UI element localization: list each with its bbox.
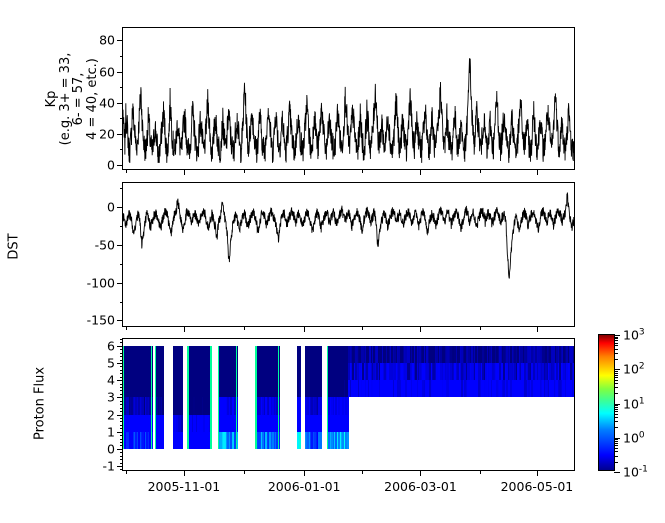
proton-y-tick [117,363,123,364]
dst-axis-title: DST [7,217,22,277]
heatmap-cell [320,346,322,363]
heatmap-cell [347,415,349,432]
heatmap-cell [162,346,164,363]
colorbar-minor-tick [614,462,618,463]
proton-y-tick-label: 6 [107,338,115,353]
colorbar-minor-tick [614,427,618,428]
colorbar-minor-tick [614,405,618,406]
colorbar-minor-tick [614,380,618,381]
proton-y-minor-tick [120,428,124,429]
dst-y-tick [117,283,123,284]
colorbar-minor-tick [614,451,618,452]
colorbar-minor-tick [614,337,618,338]
kp-plot-area [123,28,574,169]
dst-x-tick [537,326,538,332]
space-weather-figure: 020406080 Kp (e.g. 3+ = 33, 6- = 57, 4 =… [0,0,665,523]
proton-x-tick [537,470,538,476]
proton-flux-panel: -10123456 2005-11-012006-01-012006-03-01… [122,338,575,471]
proton-y-tick-label: 0 [107,441,115,456]
heatmap-cell [320,432,322,449]
proton-x-minor-tick [362,470,363,474]
heatmap-cell [162,380,164,397]
proton-x-tick-label: 2006-03-01 [384,479,457,494]
heatmap-cell [320,415,322,432]
colorbar-minor-tick [614,417,618,418]
proton-y-tick [117,449,123,450]
colorbar-minor-tick [614,456,618,457]
proton-y-minor-tick [120,366,124,367]
colorbar-minor-tick [614,441,618,442]
kp-x-tick [537,169,538,175]
colorbar-tick [614,438,620,439]
proton-y-tick [117,415,123,416]
dst-y-tick-label: -100 [87,275,115,290]
colorbar-tick [614,369,620,370]
colorbar-minor-tick [614,387,618,388]
colorbar-minor-tick [614,393,618,394]
colorbar-minor-tick [614,443,618,444]
proton-flux-heatmap [123,339,574,470]
proton-y-minor-tick [120,370,124,371]
colorbar-tick [614,472,620,473]
proton-y-tick-label: 5 [107,356,115,371]
kp-y-minor-tick [120,118,124,119]
colorbar-tick-label: 102 [623,362,645,377]
proton-y-minor-tick [120,469,124,470]
heatmap-cell [347,432,349,449]
proton-y-minor-tick [120,463,124,464]
dst-x-minor-tick [362,326,363,330]
heatmap-cell [299,346,301,363]
kp-y-tick [117,134,123,135]
proton-y-minor-tick [120,394,124,395]
kp-x-minor-tick [126,169,127,173]
kp-x-minor-tick [244,169,245,173]
heatmap-cell [162,432,164,449]
proton-x-tick [304,470,305,476]
colorbar-tick [614,335,620,336]
proton-y-tick [117,346,123,347]
heatmap-cell [299,415,301,432]
proton-y-minor-tick [120,408,124,409]
proton-y-minor-tick [120,360,124,361]
colorbar-minor-tick [614,340,618,341]
proton-x-tick-label: 2006-05-01 [501,479,574,494]
colorbar-minor-tick [614,439,618,440]
colorbar-minor-tick [614,383,618,384]
heatmap-cell [181,380,183,397]
heatmap-cell [299,380,301,397]
proton-y-minor-tick [120,356,124,357]
dst-y-tick-label: -50 [95,237,115,252]
heatmap-cell [347,397,349,414]
proton-y-minor-tick [120,353,124,354]
colorbar-minor-tick [614,411,618,412]
colorbar-minor-tick [614,414,618,415]
proton-y-minor-tick [120,445,124,446]
dst-y-tick-label: -150 [87,313,115,328]
proton-y-minor-tick [120,411,124,412]
proton-y-tick [117,466,123,467]
colorbar-minor-tick [614,377,618,378]
dst-x-tick [304,326,305,332]
heatmap-cell [299,432,301,449]
dst-y-tick [117,245,123,246]
heatmap-cell [320,380,322,397]
kp-axis-title: Kp (e.g. 3+ = 33, 6- = 57, 4 = 40, etc.) [45,29,99,169]
colorbar: 10310210110010-1 [598,334,615,471]
proton-y-minor-tick [120,342,124,343]
kp-y-minor-tick [120,149,124,150]
heatmap-cell [299,397,301,414]
heatmap-cell [299,363,301,380]
proton-y-minor-tick [120,421,124,422]
proton-y-minor-tick [120,459,124,460]
proton-axis-title-text: Proton Flux [33,367,48,440]
colorbar-minor-tick [614,349,618,350]
kp-y-tick-label: 80 [99,33,115,48]
proton-x-minor-tick [244,470,245,474]
heatmap-cell [181,363,183,380]
proton-y-minor-tick [120,401,124,402]
colorbar-minor-tick [614,343,618,344]
kp-y-tick [117,165,123,166]
kp-x-minor-tick [480,169,481,173]
dst-y-minor-tick [120,302,124,303]
proton-axis-title: Proton Flux [33,349,48,459]
proton-y-tick [117,380,123,381]
proton-y-tick [117,432,123,433]
proton-y-minor-tick [120,377,124,378]
colorbar-minor-tick [614,373,618,374]
proton-y-minor-tick [120,404,124,405]
heatmap-cell [320,363,322,380]
kp-title-line-1: (e.g. 3+ = 33, [59,29,73,169]
kp-y-tick [117,72,123,73]
proton-y-minor-tick [120,435,124,436]
colorbar-minor-tick [614,345,618,346]
proton-x-minor-tick [126,470,127,474]
proton-y-minor-tick [120,442,124,443]
heatmap-cell [162,415,164,432]
dst-x-minor-tick [244,326,245,330]
heatmap-cell [181,346,183,363]
heatmap-cell [162,397,164,414]
colorbar-minor-tick [614,409,618,410]
kp-trace [123,28,574,169]
dst-panel: 0-50-100-150 [122,182,575,327]
proton-y-minor-tick [120,439,124,440]
kp-title-line-0: Kp [45,29,59,169]
proton-y-minor-tick [120,339,124,340]
dst-trace [123,183,574,326]
dst-x-tick [184,326,185,332]
kp-y-tick [117,103,123,104]
heatmap-flare-column [278,346,279,449]
colorbar-minor-tick [614,375,618,376]
proton-y-tick-label: 1 [107,424,115,439]
proton-y-minor-tick [120,373,124,374]
colorbar-minor-tick [614,371,618,372]
proton-y-minor-tick [120,349,124,350]
proton-y-tick [117,397,123,398]
dst-x-minor-tick [126,326,127,330]
dst-y-tick [117,320,123,321]
dst-y-tick [117,207,123,208]
proton-x-tick [420,470,421,476]
proton-y-minor-tick [120,384,124,385]
kp-y-tick-label: 20 [99,126,115,141]
colorbar-minor-tick [614,353,618,354]
dst-x-tick [420,326,421,332]
kp-title-line-2: 6- = 57, [72,29,86,169]
colorbar-minor-tick [614,359,618,360]
heatmap-cell [162,363,164,380]
proton-x-tick-label: 2006-01-01 [268,479,341,494]
colorbar-tick-label: 10-1 [623,464,648,479]
proton-y-minor-tick [120,456,124,457]
heatmap-flare-column [236,346,237,449]
proton-y-minor-tick [120,452,124,453]
dst-y-minor-tick [120,264,124,265]
proton-y-tick-label: 2 [107,407,115,422]
dst-axis-title-text: DST [7,233,22,259]
heatmap-cell [181,432,183,449]
proton-y-minor-tick [120,390,124,391]
dst-y-minor-tick [120,226,124,227]
heatmap-flare-column [151,346,152,449]
dst-plot-area [123,183,574,326]
proton-y-tick-label: 3 [107,390,115,405]
proton-y-minor-tick [120,425,124,426]
kp-x-tick [420,169,421,175]
colorbar-minor-tick [614,407,618,408]
colorbar-tick-label: 103 [623,327,645,342]
dst-y-minor-tick [120,188,124,189]
kp-x-tick [304,169,305,175]
colorbar-minor-tick [614,338,618,339]
kp-title-line-3: 4 = 40, etc.) [86,29,100,169]
proton-x-tick-label: 2005-11-01 [148,479,221,494]
proton-y-tick-label: -1 [103,458,115,473]
colorbar-tick-label: 100 [623,430,645,445]
dst-x-minor-tick [480,326,481,330]
kp-panel: 020406080 [122,27,575,170]
proton-y-minor-tick [120,387,124,388]
heatmap-cell [181,397,183,414]
kp-y-tick-label: 60 [99,64,115,79]
colorbar-minor-tick [614,445,618,446]
heatmap-cell [320,397,322,414]
dst-y-tick-label: 0 [107,200,115,215]
proton-x-tick [184,470,185,476]
kp-x-tick [184,169,185,175]
kp-y-tick-label: 0 [107,157,115,172]
proton-y-minor-tick [120,418,124,419]
kp-y-minor-tick [120,56,124,57]
colorbar-minor-tick [614,448,618,449]
heatmap-cell [181,415,183,432]
colorbar-tick [614,404,620,405]
kp-x-minor-tick [362,169,363,173]
heatmap-flare-column [210,346,211,449]
colorbar-tick-label: 101 [623,396,645,411]
kp-y-tick [117,40,123,41]
proton-x-minor-tick [480,470,481,474]
proton-y-tick-label: 4 [107,373,115,388]
kp-y-tick-label: 40 [99,95,115,110]
colorbar-minor-tick [614,421,618,422]
kp-y-minor-tick [120,87,124,88]
